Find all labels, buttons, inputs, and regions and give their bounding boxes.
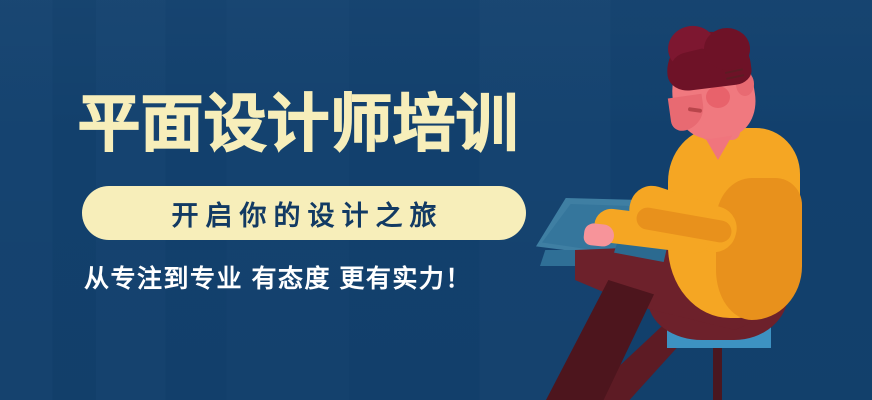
text-content-column: 平面设计师培训 开启你的设计之旅 从专注到专业 有态度 更有实力！ — [0, 0, 560, 400]
cta-pill-label: 开启你的设计之旅 — [165, 194, 444, 233]
cheek-icon — [706, 86, 730, 108]
tagline: 从专注到专业 有态度 更有实力！ — [84, 259, 472, 295]
cta-pill-button[interactable]: 开启你的设计之旅 — [82, 186, 526, 240]
page-title: 平面设计师培训 — [78, 93, 519, 157]
hand-icon — [583, 222, 615, 247]
promo-banner: 平面设计师培训 开启你的设计之旅 从专注到专业 有态度 更有实力！ — [0, 0, 872, 400]
hair-lobe-right-icon — [704, 28, 750, 70]
illustration-man-with-laptop — [520, 0, 872, 400]
sweater-shading-icon — [716, 178, 802, 320]
